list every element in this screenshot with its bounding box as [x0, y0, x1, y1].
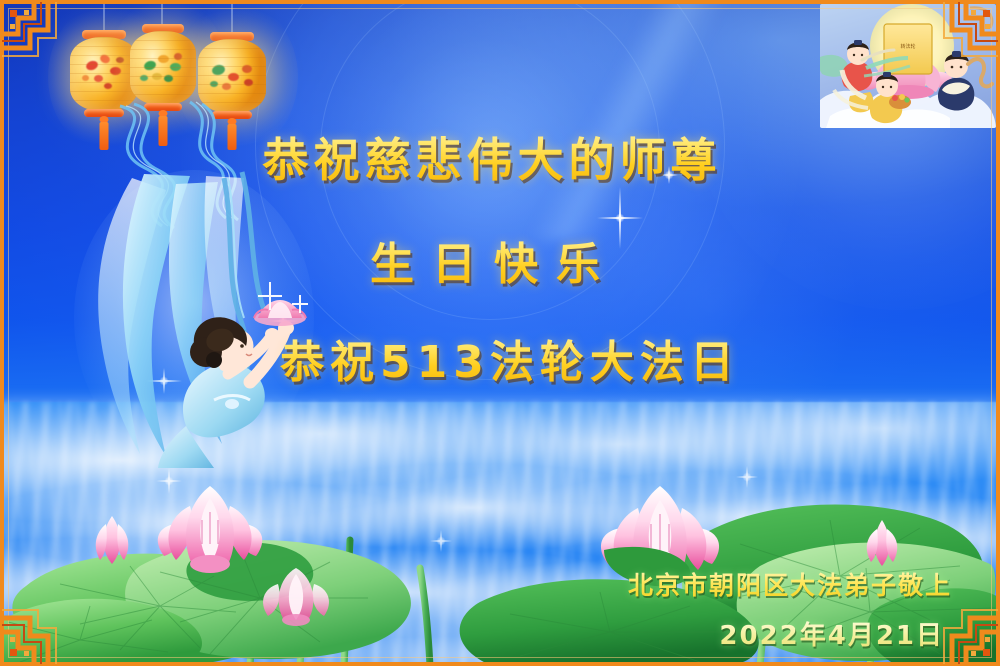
- greeting-line-3: 恭祝513法轮大法日: [10, 326, 1000, 390]
- lantern-middle: [130, 24, 196, 124]
- lantern-left: [70, 30, 138, 130]
- svg-text:转法轮: 转法轮: [900, 43, 915, 50]
- signature-date: 2022年4月21日: [719, 615, 944, 652]
- lantern-right: [198, 32, 266, 132]
- greeting-line-1: 恭祝慈悲伟大的师尊: [0, 124, 992, 190]
- cartoon-scene-children-with-book: 转法轮: [820, 4, 996, 128]
- greeting-line-2: 生日快乐: [0, 228, 994, 292]
- greeting-card: 转法轮: [0, 0, 1000, 666]
- signature-from: 北京市朝阳区大法弟子敬上: [628, 566, 952, 602]
